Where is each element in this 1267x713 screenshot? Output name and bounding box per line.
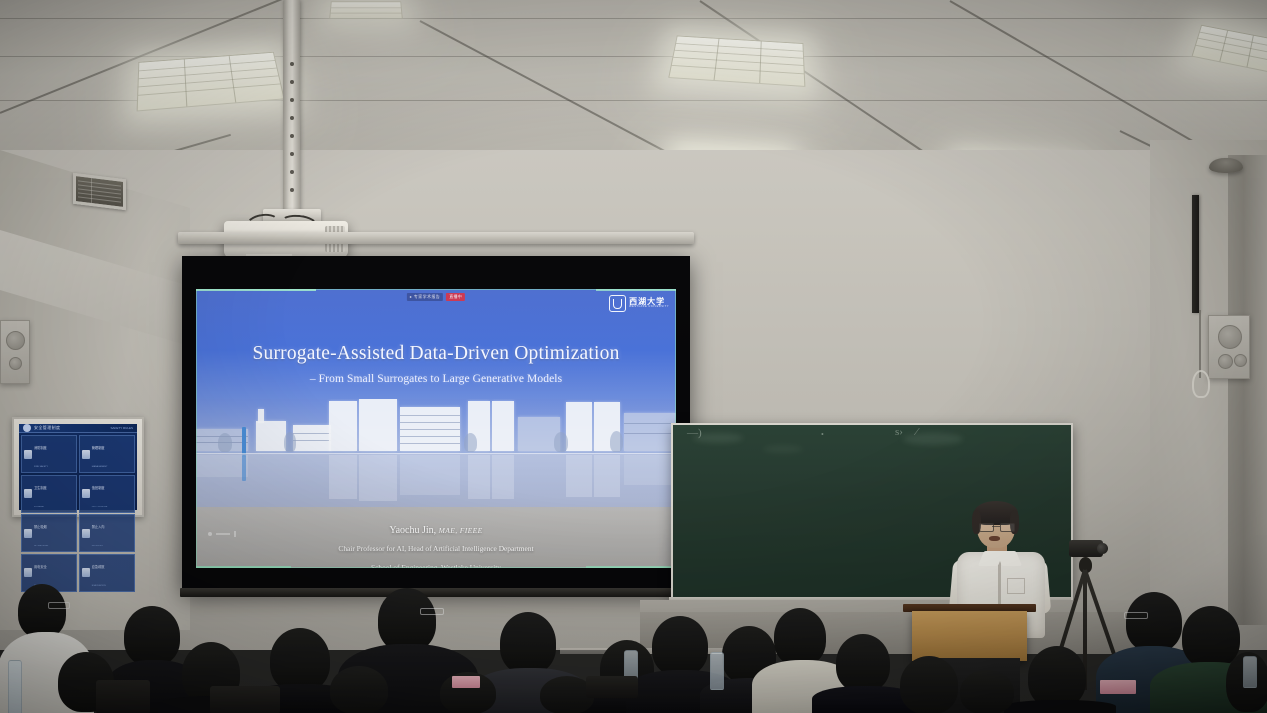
audience-head xyxy=(1126,592,1182,652)
poster-cell-sub: DUTY ROSTER xyxy=(92,506,108,508)
poster-cell: 禁止吸烟 NO SMOKING xyxy=(21,514,77,552)
camera-lens-icon xyxy=(1097,543,1108,554)
glasses-icon xyxy=(420,608,444,615)
plug-icon xyxy=(24,568,32,577)
ceiling-light xyxy=(668,36,805,87)
audience-head xyxy=(18,584,66,638)
poster-cell-sub: MANAGEMENT xyxy=(92,466,108,468)
smoke-detector-icon xyxy=(1209,158,1243,173)
air-vent-icon xyxy=(73,173,126,211)
notebook xyxy=(1100,680,1136,694)
audience-head xyxy=(960,670,1014,713)
slide-banner-text: ▸ 专家学术报告 xyxy=(407,293,443,301)
audience-head xyxy=(270,628,330,692)
slide-affiliation-line-1: Chair Professor for AI, Head of Artifici… xyxy=(196,544,676,553)
exit-icon xyxy=(82,568,90,577)
audience-head xyxy=(774,608,826,666)
poster-cell-label: 用电安全 xyxy=(34,565,47,569)
poster-title: 安全管理制度 xyxy=(34,425,60,431)
chair-back xyxy=(210,686,280,713)
document-icon xyxy=(82,450,90,459)
slide-subtitle: – From Small Surrogates to Large Generat… xyxy=(196,373,676,385)
water-bottle xyxy=(8,660,22,713)
ceiling-light xyxy=(329,1,403,19)
audience-head xyxy=(1028,646,1086,708)
poster-header: 安全管理制度 SAFETY RULES xyxy=(19,424,137,433)
slide-presenter-name: Yaochu Jin, MAE, FIEEE xyxy=(196,525,676,536)
slide-live-banner: ▸ 专家学术报告 直播中 xyxy=(407,293,465,301)
glasses-icon xyxy=(979,523,1013,530)
poster-seal-icon xyxy=(23,424,31,432)
poster-cell-label: 应急疏散 xyxy=(92,565,105,569)
slide-corner-glow xyxy=(586,566,676,568)
chair-back xyxy=(96,680,150,713)
poster-cell-sub: FIRE SAFETY xyxy=(34,466,48,468)
glasses-icon xyxy=(1124,612,1148,619)
right-column xyxy=(1228,155,1267,625)
player-bar-icon xyxy=(216,533,230,535)
poster-cell: 禁止入内 NO ENTRY xyxy=(79,514,135,552)
audience-head xyxy=(900,656,958,713)
slide-live-badge: 直播中 xyxy=(446,293,465,301)
player-tick-icon xyxy=(234,531,236,537)
slide-corner-glow xyxy=(596,289,676,291)
wall-speaker-left xyxy=(0,320,30,384)
audience-head xyxy=(652,616,708,676)
audience-head xyxy=(1182,606,1240,668)
chair-back xyxy=(586,676,638,698)
audience-head xyxy=(378,588,436,652)
wall-hook xyxy=(1192,370,1210,398)
poster-cell-label: 管理制度 xyxy=(92,446,105,450)
poster-cell-label: 消防制度 xyxy=(34,446,47,450)
slide-corner-glow xyxy=(196,566,291,568)
poster-cell-label: 卫生制度 xyxy=(34,486,47,490)
poster-cell: 值班制度 DUTY ROSTER xyxy=(79,475,135,513)
hanging-cable xyxy=(1199,310,1201,378)
person-icon xyxy=(24,450,32,459)
water-bottle xyxy=(1243,656,1257,688)
list-icon xyxy=(82,489,90,498)
safety-rules-poster: 安全管理制度 SAFETY RULES 消防制度 FIRE SAFETY 管理制… xyxy=(12,417,144,517)
projection-screen: ▸ 专家学术报告 直播中 西湖大学 WESTLAKE UNIVERSITY Su… xyxy=(182,256,690,591)
wall-rail xyxy=(1192,195,1199,313)
poster-subtitle: SAFETY RULES xyxy=(111,426,133,430)
audience-head xyxy=(500,612,556,674)
audience-head xyxy=(330,666,388,713)
slide-player-widget[interactable] xyxy=(208,531,236,537)
presentation-slide: ▸ 专家学术报告 直播中 西湖大学 WESTLAKE UNIVERSITY Su… xyxy=(196,289,676,568)
presenter-postnominals: MAE, FIEEE xyxy=(439,526,483,535)
audience xyxy=(0,580,1267,713)
slide-background-panorama xyxy=(196,399,676,507)
glasses-icon xyxy=(48,602,70,609)
projector-mount-pole xyxy=(283,0,300,215)
poster-cell-label: 禁止入内 xyxy=(92,525,105,529)
audience-head xyxy=(836,634,890,692)
poster-cell-label: 禁止吸烟 xyxy=(34,525,47,529)
screen-housing xyxy=(178,232,694,244)
westlake-university-logo: 西湖大学 WESTLAKE UNIVERSITY xyxy=(609,295,669,312)
poster-cell: 管理制度 MANAGEMENT xyxy=(79,435,135,473)
poster-cell-sub: NO ENTRY xyxy=(92,545,103,547)
poster-cell: 卫生制度 HYGIENE xyxy=(21,475,77,513)
westlake-logo-en: WESTLAKE UNIVERSITY xyxy=(629,306,669,309)
nosmoking-icon xyxy=(24,529,32,538)
slide-title: Surrogate-Assisted Data-Driven Optimizat… xyxy=(196,343,676,365)
slide-corner-glow xyxy=(196,289,316,291)
westlake-logo-mark-icon xyxy=(609,295,626,312)
ceiling-light xyxy=(1191,25,1267,74)
door-icon xyxy=(82,529,90,538)
lecture-hall-screenshot: EPSON xyxy=(0,0,1267,713)
poster-cell-sub: HYGIENE xyxy=(34,506,44,508)
poster-cell-grid: 消防制度 FIRE SAFETY 管理制度 MANAGEMENT 卫生制度 HY… xyxy=(19,433,137,594)
ceiling-light xyxy=(137,52,285,112)
poster-cell-sub: NO SMOKING xyxy=(34,545,48,547)
broom-icon xyxy=(24,489,32,498)
audience-head xyxy=(124,606,180,666)
presenter-name-text: Yaochu Jin, xyxy=(389,525,436,536)
poster-cell: 消防制度 FIRE SAFETY xyxy=(21,435,77,473)
audience-shoulders xyxy=(1004,700,1116,713)
player-dot-icon xyxy=(208,532,212,536)
poster-cell-label: 值班制度 xyxy=(92,486,105,490)
notebook xyxy=(452,676,480,688)
wall-speaker-right xyxy=(1208,315,1250,379)
water-bottle xyxy=(710,652,724,690)
